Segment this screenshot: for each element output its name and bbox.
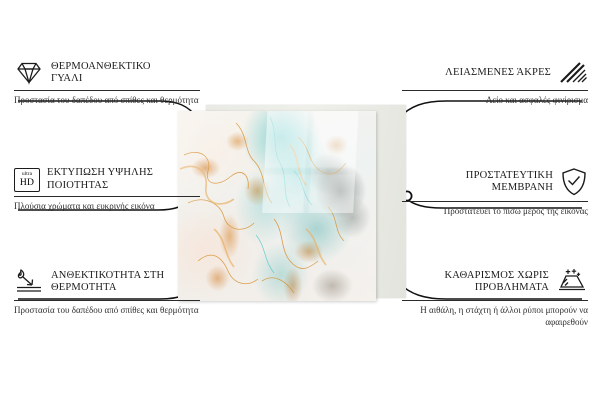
feature-heading: ΛΕΙΑΣΜΕΝΕΣ ΆΚΡΕΣ xyxy=(402,60,588,86)
product-image-abstract-marble-glass xyxy=(178,111,376,301)
shield-check-icon xyxy=(560,167,588,197)
feature-subtitle: Προστασία του δαπέδου από σπίθες και θερ… xyxy=(14,95,200,107)
feature-polished-edges: ΛΕΙΑΣΜΕΝΕΣ ΆΚΡΕΣ Λείο και ασφαλές φινίρι… xyxy=(402,60,588,107)
product-image-stage xyxy=(178,105,410,300)
feature-title: ΑΝΘΕΚΤΙΚΟΤΗΤΑ ΣΤΗ ΘΕΡΜΟΤΗΤΑ xyxy=(51,270,183,295)
feature-easy-cleaning: ΚΑΘΑΡΙΣΜΟΣ ΧΩΡΙΣ ΠΡΟΒΛΗΜΑΤΑ Η αιθάλη, η … xyxy=(402,268,588,328)
feature-heading: ΑΝΘΕΚΤΙΚΟΤΗΤΑ ΣΤΗ ΘΕΡΜΟΤΗΤΑ xyxy=(14,268,200,296)
divider-rule xyxy=(402,201,588,202)
feature-title: ΘΕΡΜΟΑΝΘΕΚΤΙΚΟ ΓΥΑΛΙ xyxy=(51,61,183,86)
divider-rule xyxy=(14,300,200,301)
feature-heading: ultra HD ΕΚΤΥΠΩΣΗ ΥΨΗΛΗΣ ΠΟΙΟΤΗΤΑΣ xyxy=(14,167,200,192)
sponge-sparkle-icon xyxy=(556,268,588,296)
feature-subtitle: Προστασία του δαπέδου από σπίθες και θερ… xyxy=(14,305,200,317)
ultra-hd-badge-bottom: HD xyxy=(20,178,34,188)
gold-vein-overlay xyxy=(178,111,376,301)
polished-edge-stripes-icon xyxy=(558,60,588,86)
feature-title: ΠΡΟΣΤΑΤΕΥΤΙΚΗ ΜΕΜΒΡΑΝΗ xyxy=(421,170,553,195)
divider-rule xyxy=(402,90,588,91)
feature-title: ΚΑΘΑΡΙΣΜΟΣ ΧΩΡΙΣ ΠΡΟΒΛΗΜΑΤΑ xyxy=(417,270,549,295)
divider-rule xyxy=(402,300,588,301)
divider-rule xyxy=(14,196,200,197)
feature-subtitle: Προστατεύει το πίσω μέρος της εικόνας xyxy=(402,206,588,218)
diamond-icon xyxy=(14,60,44,86)
feature-protective-membrane: ΠΡΟΣΤΑΤΕΥΤΙΚΗ ΜΕΜΒΡΑΝΗ Προστατεύει το πί… xyxy=(402,167,588,218)
feature-heading: ΘΕΡΜΟΑΝΘΕΚΤΙΚΟ ΓΥΑΛΙ xyxy=(14,60,200,86)
feature-heat-resistant-glass: ΘΕΡΜΟΑΝΘΕΚΤΙΚΟ ΓΥΑΛΙ Προστασία του δαπέδ… xyxy=(14,60,200,107)
feature-title: ΕΚΤΥΠΩΣΗ ΥΨΗΛΗΣ ΠΟΙΟΤΗΤΑΣ xyxy=(47,167,179,192)
divider-rule xyxy=(14,90,200,91)
feature-title: ΛΕΙΑΣΜΕΝΕΣ ΆΚΡΕΣ xyxy=(445,67,551,80)
feature-subtitle: Πλούσια χρώματα και ευκρινής εικόνα xyxy=(14,201,200,213)
feature-subtitle: Η αιθάλη, η στάχτη ή άλλοι ρύποι μπορούν… xyxy=(402,305,588,328)
feature-high-quality-print: ultra HD ΕΚΤΥΠΩΣΗ ΥΨΗΛΗΣ ΠΟΙΟΤΗΤΑΣ Πλούσ… xyxy=(14,167,200,213)
ultra-hd-badge-icon: ultra HD xyxy=(14,168,40,192)
feature-heading: ΠΡΟΣΤΑΤΕΥΤΙΚΗ ΜΕΜΒΡΑΝΗ xyxy=(402,167,588,197)
feature-heading: ΚΑΘΑΡΙΣΜΟΣ ΧΩΡΙΣ ΠΡΟΒΛΗΜΑΤΑ xyxy=(402,268,588,296)
feature-heat-durability: ΑΝΘΕΚΤΙΚΟΤΗΤΑ ΣΤΗ ΘΕΡΜΟΤΗΤΑ Προστασία το… xyxy=(14,268,200,317)
flame-deflect-icon xyxy=(14,268,44,296)
feature-subtitle: Λείο και ασφαλές φινίρισμα xyxy=(402,95,588,107)
